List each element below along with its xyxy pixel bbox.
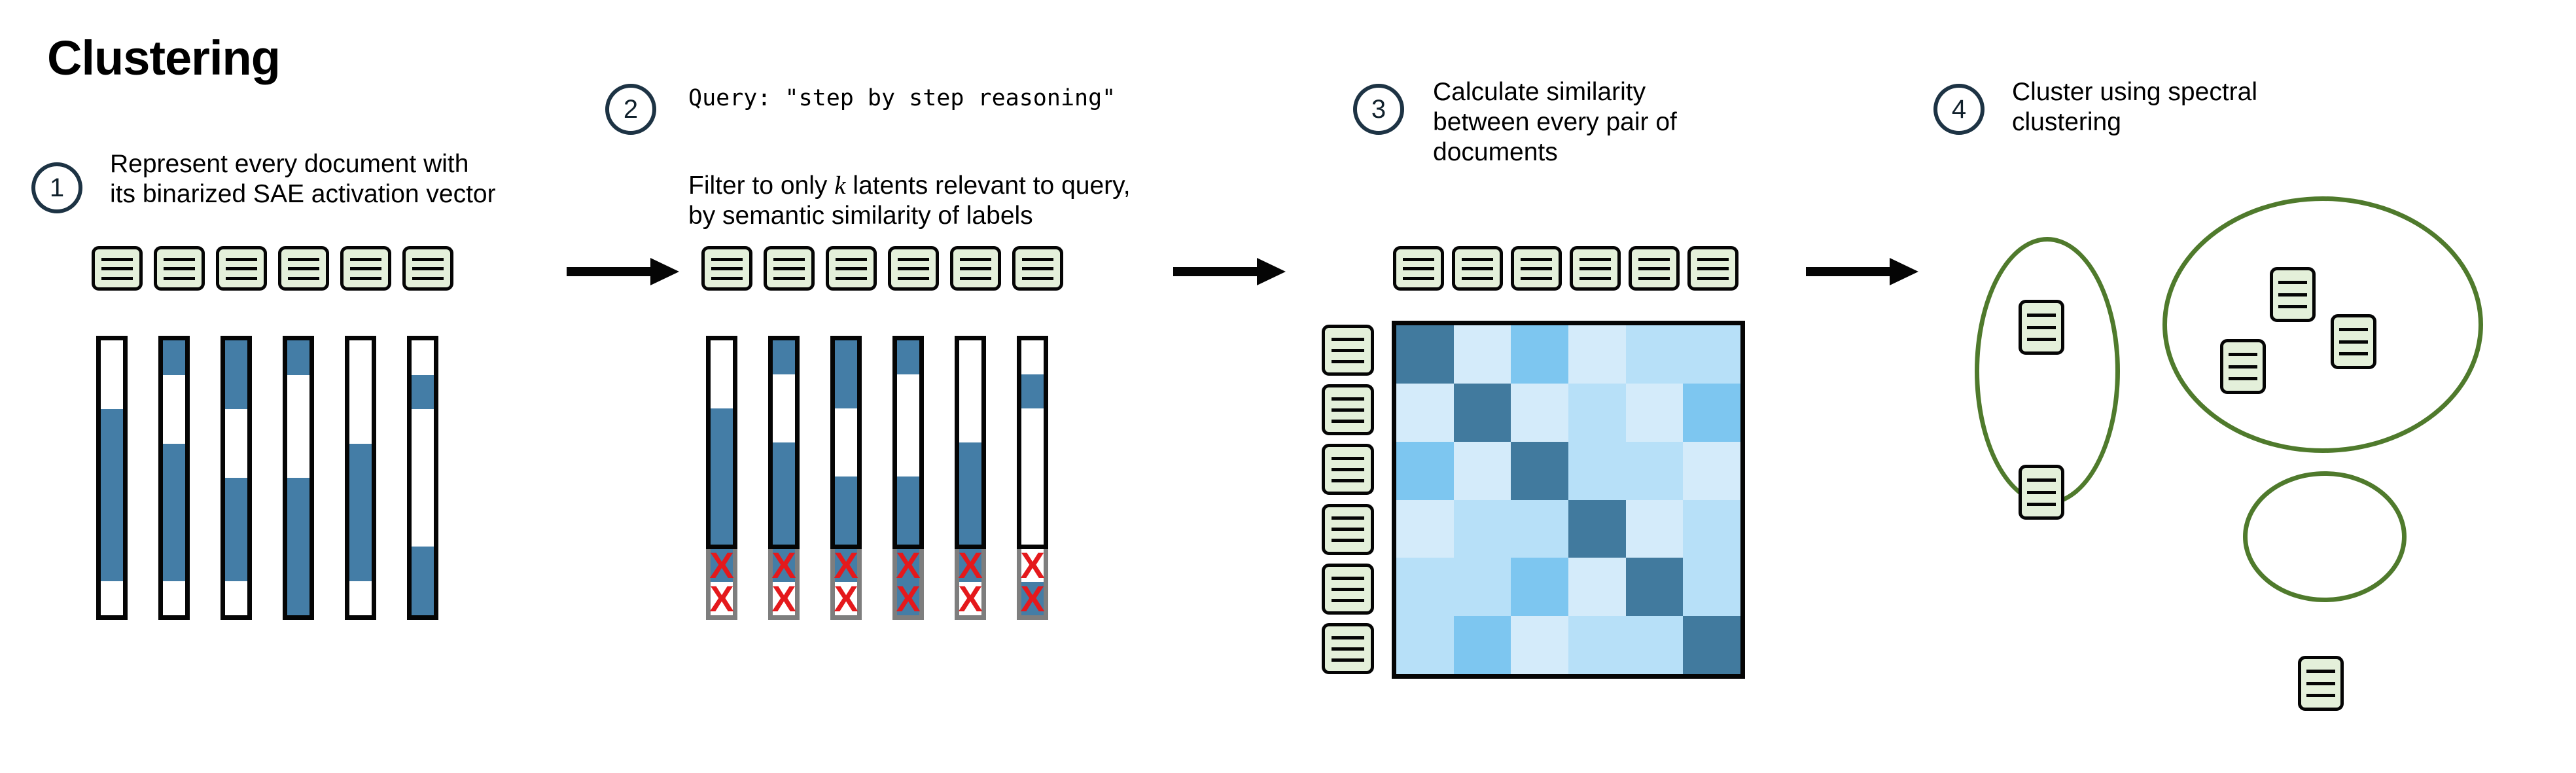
panel2-bar-5-kept-cell-2 (959, 374, 981, 408)
step-number-1: 1 (50, 173, 64, 203)
panel1-bar-1-cell-1 (101, 340, 123, 375)
similarity-cell-r6-c4 (1568, 616, 1626, 674)
filtered-out-x-icon: X (835, 582, 857, 615)
panel2-bar-6-kept-cell-1 (1021, 340, 1044, 374)
panel1-doc-6 (402, 246, 453, 291)
panel2-bar-3-kept-cell-1 (835, 340, 857, 374)
panel1-bar-5-cell-4 (349, 444, 372, 478)
panel2-bar-1-kept-cell-2 (711, 374, 733, 408)
panel2-bar-2-kept-cell-1 (773, 340, 795, 374)
similarity-cell-r4-c3 (1511, 500, 1568, 558)
panel2-bar-2-dropped-cell-1: X (773, 549, 795, 583)
panel1-bar-4-cell-7 (287, 547, 309, 581)
panel1-activation-bar-2 (158, 336, 190, 620)
panel1-doc-5 (340, 246, 391, 291)
step-caption-3: Calculate similarity between every pair … (1433, 77, 1677, 168)
panel1-activation-bar-5 (345, 336, 376, 620)
cluster-small-bottom (2243, 471, 2407, 602)
panel2-bar-4-kept-cell-5 (897, 476, 919, 511)
step-badge-2: 2 (605, 84, 656, 135)
arrow-step3-step4 (1806, 254, 1918, 289)
panel1-bar-1-cell-7 (101, 547, 123, 581)
panel2-bar-1-kept-cell-5 (711, 476, 733, 511)
panel2-doc-3 (826, 246, 877, 291)
similarity-cell-r3-c5 (1626, 442, 1684, 500)
similarity-cell-r4-c2 (1454, 500, 1511, 558)
panel3-row-doc-5 (1322, 564, 1374, 615)
panel1-doc-1 (92, 246, 143, 291)
panel3-col-doc-1 (1393, 246, 1444, 291)
panel1-bar-4-cell-2 (287, 375, 309, 410)
panel3-col-doc-4 (1570, 246, 1621, 291)
filtered-out-x-icon: X (1021, 582, 1044, 615)
panel1-bar-4-cell-1 (287, 340, 309, 375)
filtered-out-x-icon: X (835, 549, 857, 583)
similarity-cell-r6-c1 (1396, 616, 1454, 674)
panel1-bar-2-cell-3 (163, 409, 185, 444)
filtered-out-x-icon: X (897, 582, 919, 615)
panel2-bar-5-kept-cell-4 (959, 442, 981, 476)
panel2-bar-2-kept-cell-5 (773, 476, 795, 511)
panel1-bar-3-cell-5 (225, 478, 247, 512)
panel3-row-doc-6 (1322, 623, 1374, 674)
similarity-cell-r1-c1 (1396, 325, 1454, 384)
step-badge-3: 3 (1353, 84, 1404, 135)
panel1-bar-2-cell-2 (163, 375, 185, 410)
panel2-bar-6-kept-cell-4 (1021, 442, 1044, 476)
panel1-activation-bar-1 (96, 336, 128, 620)
panel3-col-doc-3 (1511, 246, 1562, 291)
panel3-row-doc-4 (1322, 504, 1374, 555)
panel1-bar-5-cell-7 (349, 547, 372, 581)
similarity-cell-r5-c4 (1568, 558, 1626, 616)
panel1-bar-3-cell-3 (225, 409, 247, 444)
panel2-bar-4-kept-cell-1 (897, 340, 919, 374)
similarity-cell-r5-c6 (1683, 558, 1740, 616)
panel2-bar-6-dropped-cell-2: X (1021, 582, 1044, 615)
panel1-bar-6-cell-6 (412, 512, 434, 547)
step2-caption-k: k (834, 171, 845, 200)
panel1-bar-3-cell-6 (225, 512, 247, 547)
panel1-bar-6-cell-2 (412, 375, 434, 410)
panel1-bar-1-cell-4 (101, 444, 123, 478)
panel1-bar-1-cell-8 (101, 581, 123, 616)
arrow-step2-step3 (1173, 254, 1286, 289)
panel1-bar-6-cell-7 (412, 547, 434, 581)
panel2-doc-2 (764, 246, 815, 291)
panel1-bar-1-cell-3 (101, 409, 123, 444)
similarity-cell-r6-c6 (1683, 616, 1740, 674)
similarity-cell-r1-c3 (1511, 325, 1568, 384)
panel2-bar-3-kept-cell-5 (835, 476, 857, 511)
panel2-bar-3-dropped-cell-1: X (835, 549, 857, 583)
panel2-bar-6-dropped-cell-1: X (1021, 549, 1044, 583)
panel3-row-doc-1 (1322, 325, 1374, 376)
panel2-dropped-latents-bar-6: XX (1017, 549, 1048, 620)
similarity-cell-r1-c2 (1454, 325, 1511, 384)
similarity-cell-r3-c2 (1454, 442, 1511, 500)
panel1-bar-2-cell-1 (163, 340, 185, 375)
similarity-cell-r6-c3 (1511, 616, 1568, 674)
panel2-doc-1 (701, 246, 752, 291)
cluster-tall-left-doc-1 (2019, 300, 2064, 355)
panel3-col-doc-2 (1452, 246, 1503, 291)
panel2-dropped-latents-bar-5: XX (955, 549, 986, 620)
panel3-row-doc-3 (1322, 444, 1374, 495)
filtered-out-x-icon: X (959, 582, 981, 615)
panel2-bar-3-dropped-cell-2: X (835, 582, 857, 615)
panel1-bar-6-cell-5 (412, 478, 434, 512)
panel2-dropped-latents-bar-4: XX (892, 549, 924, 620)
panel1-bar-5-cell-1 (349, 340, 372, 375)
panel1-bar-3-cell-7 (225, 547, 247, 581)
panel3-col-doc-5 (1629, 246, 1680, 291)
cluster-small-bottom-doc-1 (2298, 656, 2344, 711)
panel2-bar-4-kept-cell-6 (897, 511, 919, 545)
panel1-bar-3-cell-8 (225, 581, 247, 616)
panel2-dropped-latents-bar-3: XX (830, 549, 862, 620)
panel2-bar-5-kept-cell-1 (959, 340, 981, 374)
panel2-bar-5-dropped-cell-1: X (959, 549, 981, 583)
filtered-out-x-icon: X (711, 549, 733, 583)
panel2-bar-1-dropped-cell-1: X (711, 549, 733, 583)
similarity-cell-r4-c4 (1568, 500, 1626, 558)
panel2-bar-2-kept-cell-3 (773, 408, 795, 442)
filtered-out-x-icon: X (959, 549, 981, 583)
similarity-cell-r2-c2 (1454, 384, 1511, 442)
panel2-bar-2-kept-cell-6 (773, 511, 795, 545)
panel2-kept-latents-bar-4 (892, 336, 924, 549)
similarity-cell-r1-c4 (1568, 325, 1626, 384)
similarity-cell-r5-c3 (1511, 558, 1568, 616)
panel1-bar-4-cell-6 (287, 512, 309, 547)
panel2-bar-1-kept-cell-6 (711, 511, 733, 545)
panel1-bar-4-cell-3 (287, 409, 309, 444)
panel2-dropped-latents-bar-1: XX (706, 549, 737, 620)
panel2-bar-2-kept-cell-4 (773, 442, 795, 476)
step-number-2: 2 (624, 95, 638, 124)
similarity-cell-r3-c6 (1683, 442, 1740, 500)
panel1-bar-3-cell-4 (225, 444, 247, 478)
panel1-bar-6-cell-3 (412, 409, 434, 444)
panel1-bar-5-cell-5 (349, 478, 372, 512)
panel2-bar-4-kept-cell-2 (897, 374, 919, 408)
cluster-large-center (2162, 196, 2483, 453)
similarity-cell-r3-c1 (1396, 442, 1454, 500)
panel2-doc-6 (1012, 246, 1063, 291)
filtered-out-x-icon: X (897, 549, 919, 583)
similarity-cell-r6-c5 (1626, 616, 1684, 674)
filtered-out-x-icon: X (711, 582, 733, 615)
panel1-bar-4-cell-5 (287, 478, 309, 512)
cluster-large-center-doc-2 (2220, 339, 2266, 394)
panel1-bar-2-cell-8 (163, 581, 185, 616)
panel2-bar-3-kept-cell-6 (835, 511, 857, 545)
panel2-bar-6-kept-cell-5 (1021, 476, 1044, 511)
similarity-cell-r1-c5 (1626, 325, 1684, 384)
panel3-row-doc-2 (1322, 384, 1374, 435)
panel1-activation-bar-6 (407, 336, 438, 620)
panel2-kept-latents-bar-2 (768, 336, 800, 549)
panel1-activation-bar-3 (221, 336, 252, 620)
step-badge-1: 1 (31, 162, 82, 213)
step-number-3: 3 (1371, 95, 1386, 124)
panel1-activation-bar-4 (283, 336, 314, 620)
similarity-cell-r5-c1 (1396, 558, 1454, 616)
panel1-bar-4-cell-8 (287, 581, 309, 616)
panel2-bar-2-kept-cell-2 (773, 374, 795, 408)
step-badge-4: 4 (1933, 84, 1985, 135)
panel2-bar-6-kept-cell-6 (1021, 511, 1044, 545)
similarity-cell-r4-c1 (1396, 500, 1454, 558)
similarity-cell-r2-c3 (1511, 384, 1568, 442)
similarity-matrix (1392, 321, 1745, 679)
panel2-bar-1-dropped-cell-2: X (711, 582, 733, 615)
step-caption-1: Represent every document with its binari… (110, 149, 496, 209)
panel2-bar-5-kept-cell-6 (959, 511, 981, 545)
similarity-cell-r1-c6 (1683, 325, 1740, 384)
step-number-4: 4 (1952, 95, 1966, 124)
panel2-bar-4-kept-cell-3 (897, 408, 919, 442)
panel2-bar-4-dropped-cell-1: X (897, 549, 919, 583)
panel1-bar-3-cell-1 (225, 340, 247, 375)
panel1-doc-4 (278, 246, 329, 291)
panel1-bar-1-cell-6 (101, 512, 123, 547)
similarity-cell-r5-c2 (1454, 558, 1511, 616)
step-caption-4: Cluster using spectral clustering (2012, 77, 2257, 137)
similarity-cell-r5-c5 (1626, 558, 1684, 616)
panel2-kept-latents-bar-1 (706, 336, 737, 549)
arrow-step1-step2 (567, 254, 679, 289)
panel2-bar-4-kept-cell-4 (897, 442, 919, 476)
panel1-bar-6-cell-8 (412, 581, 434, 616)
panel1-doc-3 (216, 246, 267, 291)
panel3-col-doc-6 (1687, 246, 1738, 291)
panel1-bar-5-cell-6 (349, 512, 372, 547)
similarity-cell-r4-c6 (1683, 500, 1740, 558)
panel2-kept-latents-bar-3 (830, 336, 862, 549)
panel1-bar-4-cell-4 (287, 444, 309, 478)
panel1-bar-1-cell-2 (101, 375, 123, 410)
cluster-large-center-doc-1 (2270, 267, 2316, 322)
panel2-bar-6-kept-cell-3 (1021, 408, 1044, 442)
panel2-bar-5-kept-cell-5 (959, 476, 981, 511)
panel1-bar-5-cell-8 (349, 581, 372, 616)
panel2-dropped-latents-bar-2: XX (768, 549, 800, 620)
panel1-bar-2-cell-5 (163, 478, 185, 512)
panel1-doc-2 (154, 246, 205, 291)
panel2-bar-1-kept-cell-3 (711, 408, 733, 442)
cluster-large-center-doc-3 (2331, 314, 2376, 369)
panel2-bar-2-dropped-cell-2: X (773, 582, 795, 615)
panel1-bar-1-cell-5 (101, 478, 123, 512)
panel2-kept-latents-bar-6 (1017, 336, 1048, 549)
panel2-bar-3-kept-cell-2 (835, 374, 857, 408)
step2-caption-pre: Filter to only (688, 171, 834, 200)
panel1-bar-6-cell-1 (412, 340, 434, 375)
panel2-bar-4-dropped-cell-2: X (897, 582, 919, 615)
step-caption-2: Filter to only k latents relevant to que… (688, 141, 1131, 231)
panel2-bar-1-kept-cell-1 (711, 340, 733, 374)
panel2-kept-latents-bar-5 (955, 336, 986, 549)
similarity-cell-r6-c2 (1454, 616, 1511, 674)
panel1-bar-3-cell-2 (225, 375, 247, 410)
panel1-bar-5-cell-2 (349, 375, 372, 410)
panel1-bar-2-cell-4 (163, 444, 185, 478)
panel1-bar-2-cell-7 (163, 547, 185, 581)
step2-query-line: Query: "step by step reasoning" (688, 85, 1116, 111)
similarity-cell-r4-c5 (1626, 500, 1684, 558)
panel2-doc-4 (888, 246, 939, 291)
panel2-bar-5-kept-cell-3 (959, 408, 981, 442)
page-title: Clustering (47, 34, 280, 82)
panel1-bar-2-cell-6 (163, 512, 185, 547)
similarity-cell-r3-c4 (1568, 442, 1626, 500)
similarity-cell-r2-c5 (1626, 384, 1684, 442)
similarity-cell-r2-c1 (1396, 384, 1454, 442)
filtered-out-x-icon: X (1021, 549, 1044, 583)
panel2-bar-1-kept-cell-4 (711, 442, 733, 476)
similarity-cell-r2-c6 (1683, 384, 1740, 442)
panel2-bar-3-kept-cell-4 (835, 442, 857, 476)
similarity-cell-r3-c3 (1511, 442, 1568, 500)
filtered-out-x-icon: X (773, 549, 795, 583)
cluster-tall-left-doc-2 (2019, 465, 2064, 520)
panel2-bar-3-kept-cell-3 (835, 408, 857, 442)
panel2-bar-6-kept-cell-2 (1021, 374, 1044, 408)
similarity-cell-r2-c4 (1568, 384, 1626, 442)
panel1-bar-5-cell-3 (349, 409, 372, 444)
panel2-doc-5 (950, 246, 1001, 291)
panel2-bar-5-dropped-cell-2: X (959, 582, 981, 615)
filtered-out-x-icon: X (773, 582, 795, 615)
panel1-bar-6-cell-4 (412, 444, 434, 478)
